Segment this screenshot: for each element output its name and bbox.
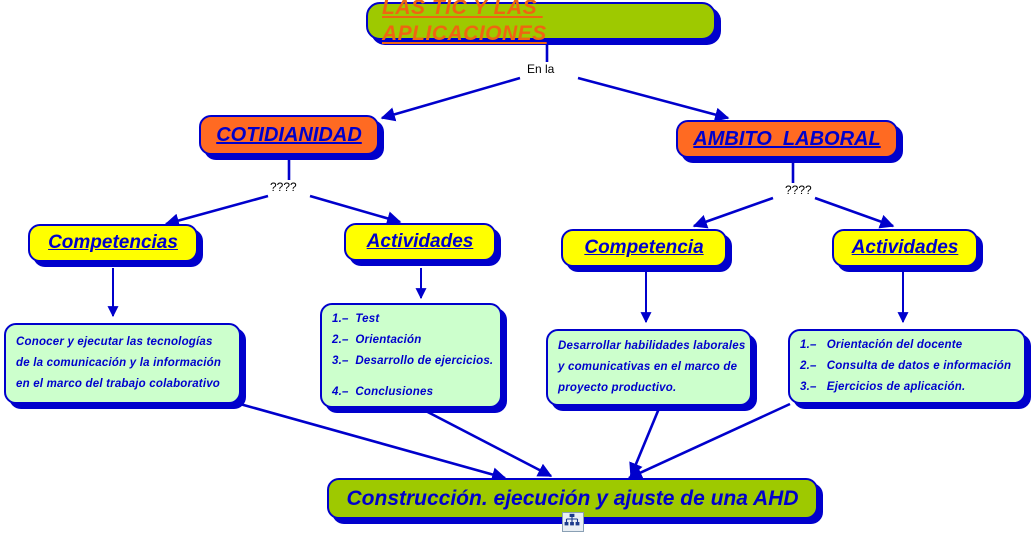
edge-detail1-to-bottom xyxy=(240,404,505,478)
node-detail-competencias-left[interactable]: Conocer y ejecutar las tecnologías de la… xyxy=(4,323,241,404)
edge-cotidianidad-to-competencias xyxy=(166,196,268,224)
hierarchy-tree-icon-glyph xyxy=(563,513,581,529)
detail-line: proyecto productivo. xyxy=(558,378,745,399)
detail-line: 2.– Consulta de datos e información xyxy=(800,356,1011,377)
detail-line: Conocer y ejecutar las tecnologías xyxy=(16,332,221,353)
link-label-cotidianidad-split: ???? xyxy=(268,180,299,194)
detail-line: en el marco del trabajo colaborativo xyxy=(16,374,221,395)
node-root-title[interactable]: LAS TIC Y LAS APLICACIONES xyxy=(366,2,716,40)
node-cotidianidad-label: COTIDIANIDAD xyxy=(216,122,362,148)
node-ambito-laboral-label: AMBITO LABORAL xyxy=(693,126,880,152)
detail-line: Desarrollar habilidades laborales xyxy=(558,336,745,357)
node-root-title-label: LAS TIC Y LAS APLICACIONES xyxy=(382,0,700,47)
node-detail-actividades-right[interactable]: 1.– Orientación del docente 2.– Consulta… xyxy=(788,329,1026,404)
detail-line: 1.– Orientación del docente xyxy=(800,335,1011,356)
edge-detail3-to-bottom xyxy=(631,406,660,476)
detail-line: de la comunicación y la información xyxy=(16,353,221,374)
detail-actividades-right-lines: 1.– Orientación del docente 2.– Consulta… xyxy=(800,335,1011,398)
node-competencias-left-label: Competencias xyxy=(48,231,178,255)
detail-competencia-right-lines: Desarrollar habilidades laborales y comu… xyxy=(558,336,745,399)
node-actividades-left[interactable]: Actividades xyxy=(344,223,496,261)
link-label-ambito-split: ???? xyxy=(783,183,814,197)
edge-root-to-cotidianidad xyxy=(382,78,520,118)
edge-ambito-to-competencia xyxy=(694,198,773,226)
edge-detail4-to-bottom xyxy=(629,404,790,478)
node-cotidianidad[interactable]: COTIDIANIDAD xyxy=(199,115,379,155)
concept-map-canvas: LAS TIC Y LAS APLICACIONES COTIDIANIDAD … xyxy=(0,0,1032,535)
link-label-root-split: En la xyxy=(525,62,556,76)
edge-cotidianidad-to-actividades xyxy=(310,196,400,222)
detail-line-blank xyxy=(332,372,493,382)
detail-competencias-left-lines: Conocer y ejecutar las tecnologías de la… xyxy=(16,332,221,395)
hierarchy-tree-icon[interactable] xyxy=(562,512,584,532)
node-bottom-conclusion-label: Construcción. ejecución y ajuste de una … xyxy=(347,484,799,514)
detail-line: 3.– Ejercicios de aplicación. xyxy=(800,377,1011,398)
detail-line: 3.– Desarrollo de ejercicios. xyxy=(332,351,493,372)
node-detail-actividades-left[interactable]: 1.– Test 2.– Orientación 3.– Desarrollo … xyxy=(320,303,502,408)
edge-layer xyxy=(0,0,1032,535)
detail-line: 4.– Conclusiones xyxy=(332,382,493,403)
node-actividades-left-label: Actividades xyxy=(367,230,474,254)
edge-ambito-to-actividades xyxy=(815,198,893,226)
node-competencia-right[interactable]: Competencia xyxy=(561,229,727,267)
detail-line: y comunicativas en el marco de xyxy=(558,357,745,378)
detail-line: 2.– Orientación xyxy=(332,330,493,351)
node-ambito-laboral[interactable]: AMBITO LABORAL xyxy=(676,120,898,158)
edge-root-to-ambito xyxy=(578,78,728,118)
node-competencias-left[interactable]: Competencias xyxy=(28,224,198,262)
edge-detail2-to-bottom xyxy=(420,408,551,476)
detail-actividades-left-lines: 1.– Test 2.– Orientación 3.– Desarrollo … xyxy=(332,309,493,403)
node-competencia-right-label: Competencia xyxy=(584,236,703,260)
node-detail-competencia-right[interactable]: Desarrollar habilidades laborales y comu… xyxy=(546,329,752,406)
detail-line: 1.– Test xyxy=(332,309,493,330)
node-actividades-right-label: Actividades xyxy=(852,236,959,260)
node-actividades-right[interactable]: Actividades xyxy=(832,229,978,267)
